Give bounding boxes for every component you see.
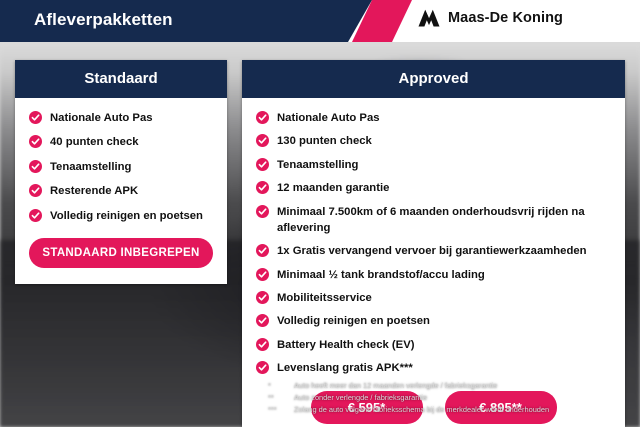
approved-feature-item: 130 punten check	[256, 133, 611, 149]
check-circle-icon	[256, 181, 269, 194]
check-circle-icon	[29, 160, 42, 173]
approved-feature-item: 1x Gratis vervangend vervoer bij garanti…	[256, 243, 611, 259]
check-circle-icon	[256, 205, 269, 218]
approved-feature-item: Battery Health check (EV)	[256, 337, 611, 353]
standaard-inbegrepen-button[interactable]: STANDAARD INBEGREPEN	[29, 238, 213, 268]
approved-feature-item-label: Tenaamstelling	[277, 157, 358, 173]
standaard-feature-item-label: Volledig reinigen en poetsen	[50, 208, 203, 224]
approved-feature-item: Minimaal 7.500km of 6 maanden onderhouds…	[256, 204, 611, 237]
footnote-text: Zolang de auto volgens fabrieksschema bi…	[294, 404, 549, 416]
approved-card-body: Nationale Auto Pas130 punten checkTenaam…	[242, 98, 625, 427]
standaard-card: Standaard Nationale Auto Pas40 punten ch…	[15, 60, 227, 284]
footnote-marker: **	[268, 392, 284, 404]
footnote-text: Auto zonder verlengde / fabrieksgarantie	[294, 392, 427, 404]
check-circle-icon	[256, 291, 269, 304]
footnotes: *Auto heeft meer dan 12 maanden verlengd…	[268, 380, 628, 416]
approved-feature-item-label: 130 punten check	[277, 133, 372, 149]
check-circle-icon	[256, 314, 269, 327]
standaard-feature-item-label: Tenaamstelling	[50, 159, 131, 175]
footnote-text: Auto heeft meer dan 12 maanden verlengde…	[294, 380, 497, 392]
approved-feature-item: Minimaal ½ tank brandstof/accu lading	[256, 267, 611, 283]
page-root: Afleverpakketten Maas-De Koning Standaar…	[0, 0, 640, 427]
footnote-row: *Auto heeft meer dan 12 maanden verlengd…	[268, 380, 628, 392]
approved-feature-item: Levenslang gratis APK***	[256, 360, 611, 376]
check-circle-icon	[29, 184, 42, 197]
standaard-feature-item: Nationale Auto Pas	[29, 110, 213, 126]
standaard-feature-item: Volledig reinigen en poetsen	[29, 208, 213, 224]
approved-feature-item: Nationale Auto Pas	[256, 110, 611, 126]
footnote-marker: ***	[268, 404, 284, 416]
check-circle-icon	[256, 111, 269, 124]
approved-feature-item: Volledig reinigen en poetsen	[256, 313, 611, 329]
approved-feature-item-label: 12 maanden garantie	[277, 180, 389, 196]
standaard-feature-item: Tenaamstelling	[29, 159, 213, 175]
standaard-feature-item-label: Nationale Auto Pas	[50, 110, 153, 126]
approved-feature-item: Tenaamstelling	[256, 157, 611, 173]
check-circle-icon	[29, 135, 42, 148]
standaard-card-heading: Standaard	[15, 60, 227, 98]
footnote-marker: *	[268, 380, 284, 392]
approved-feature-item-label: Battery Health check (EV)	[277, 337, 415, 353]
check-circle-icon	[256, 338, 269, 351]
check-circle-icon	[256, 158, 269, 171]
approved-feature-item-label: Levenslang gratis APK***	[277, 360, 413, 376]
approved-feature-item: Mobiliteitsservice	[256, 290, 611, 306]
footnote-row: **Auto zonder verlengde / fabrieksgarant…	[268, 392, 628, 404]
approved-feature-item-label: Minimaal ½ tank brandstof/accu lading	[277, 267, 485, 283]
standaard-feature-item-label: 40 punten check	[50, 134, 139, 150]
standaard-feature-list: Nationale Auto Pas40 punten checkTenaams…	[29, 110, 213, 224]
brand-logo: Maas-De Koning	[418, 9, 563, 27]
footnote-row: ***Zolang de auto volgens fabrieksschema…	[268, 404, 628, 416]
standaard-feature-item: 40 punten check	[29, 134, 213, 150]
check-circle-icon	[256, 361, 269, 374]
check-circle-icon	[29, 111, 42, 124]
approved-feature-item-label: Mobiliteitsservice	[277, 290, 372, 306]
brand-name: Maas-De Koning	[448, 10, 563, 26]
approved-feature-item-label: 1x Gratis vervangend vervoer bij garanti…	[277, 243, 587, 259]
page-title: Afleverpakketten	[34, 10, 173, 30]
check-circle-icon	[256, 244, 269, 257]
approved-feature-item-label: Volledig reinigen en poetsen	[277, 313, 430, 329]
check-circle-icon	[29, 209, 42, 222]
check-circle-icon	[256, 134, 269, 147]
approved-feature-item-label: Nationale Auto Pas	[277, 110, 380, 126]
approved-feature-list: Nationale Auto Pas130 punten checkTenaam…	[256, 110, 611, 377]
approved-feature-item: 12 maanden garantie	[256, 180, 611, 196]
maas-de-koning-m-mark-icon	[418, 9, 440, 27]
approved-card: Approved Nationale Auto Pas130 punten ch…	[242, 60, 625, 427]
approved-feature-item-label: Minimaal 7.500km of 6 maanden onderhouds…	[277, 204, 611, 237]
standaard-card-body: Nationale Auto Pas40 punten checkTenaams…	[15, 98, 227, 284]
approved-card-heading: Approved	[242, 60, 625, 98]
standaard-feature-item-label: Resterende APK	[50, 183, 138, 199]
standaard-feature-item: Resterende APK	[29, 183, 213, 199]
page-header: Afleverpakketten Maas-De Koning	[0, 0, 640, 42]
check-circle-icon	[256, 268, 269, 281]
